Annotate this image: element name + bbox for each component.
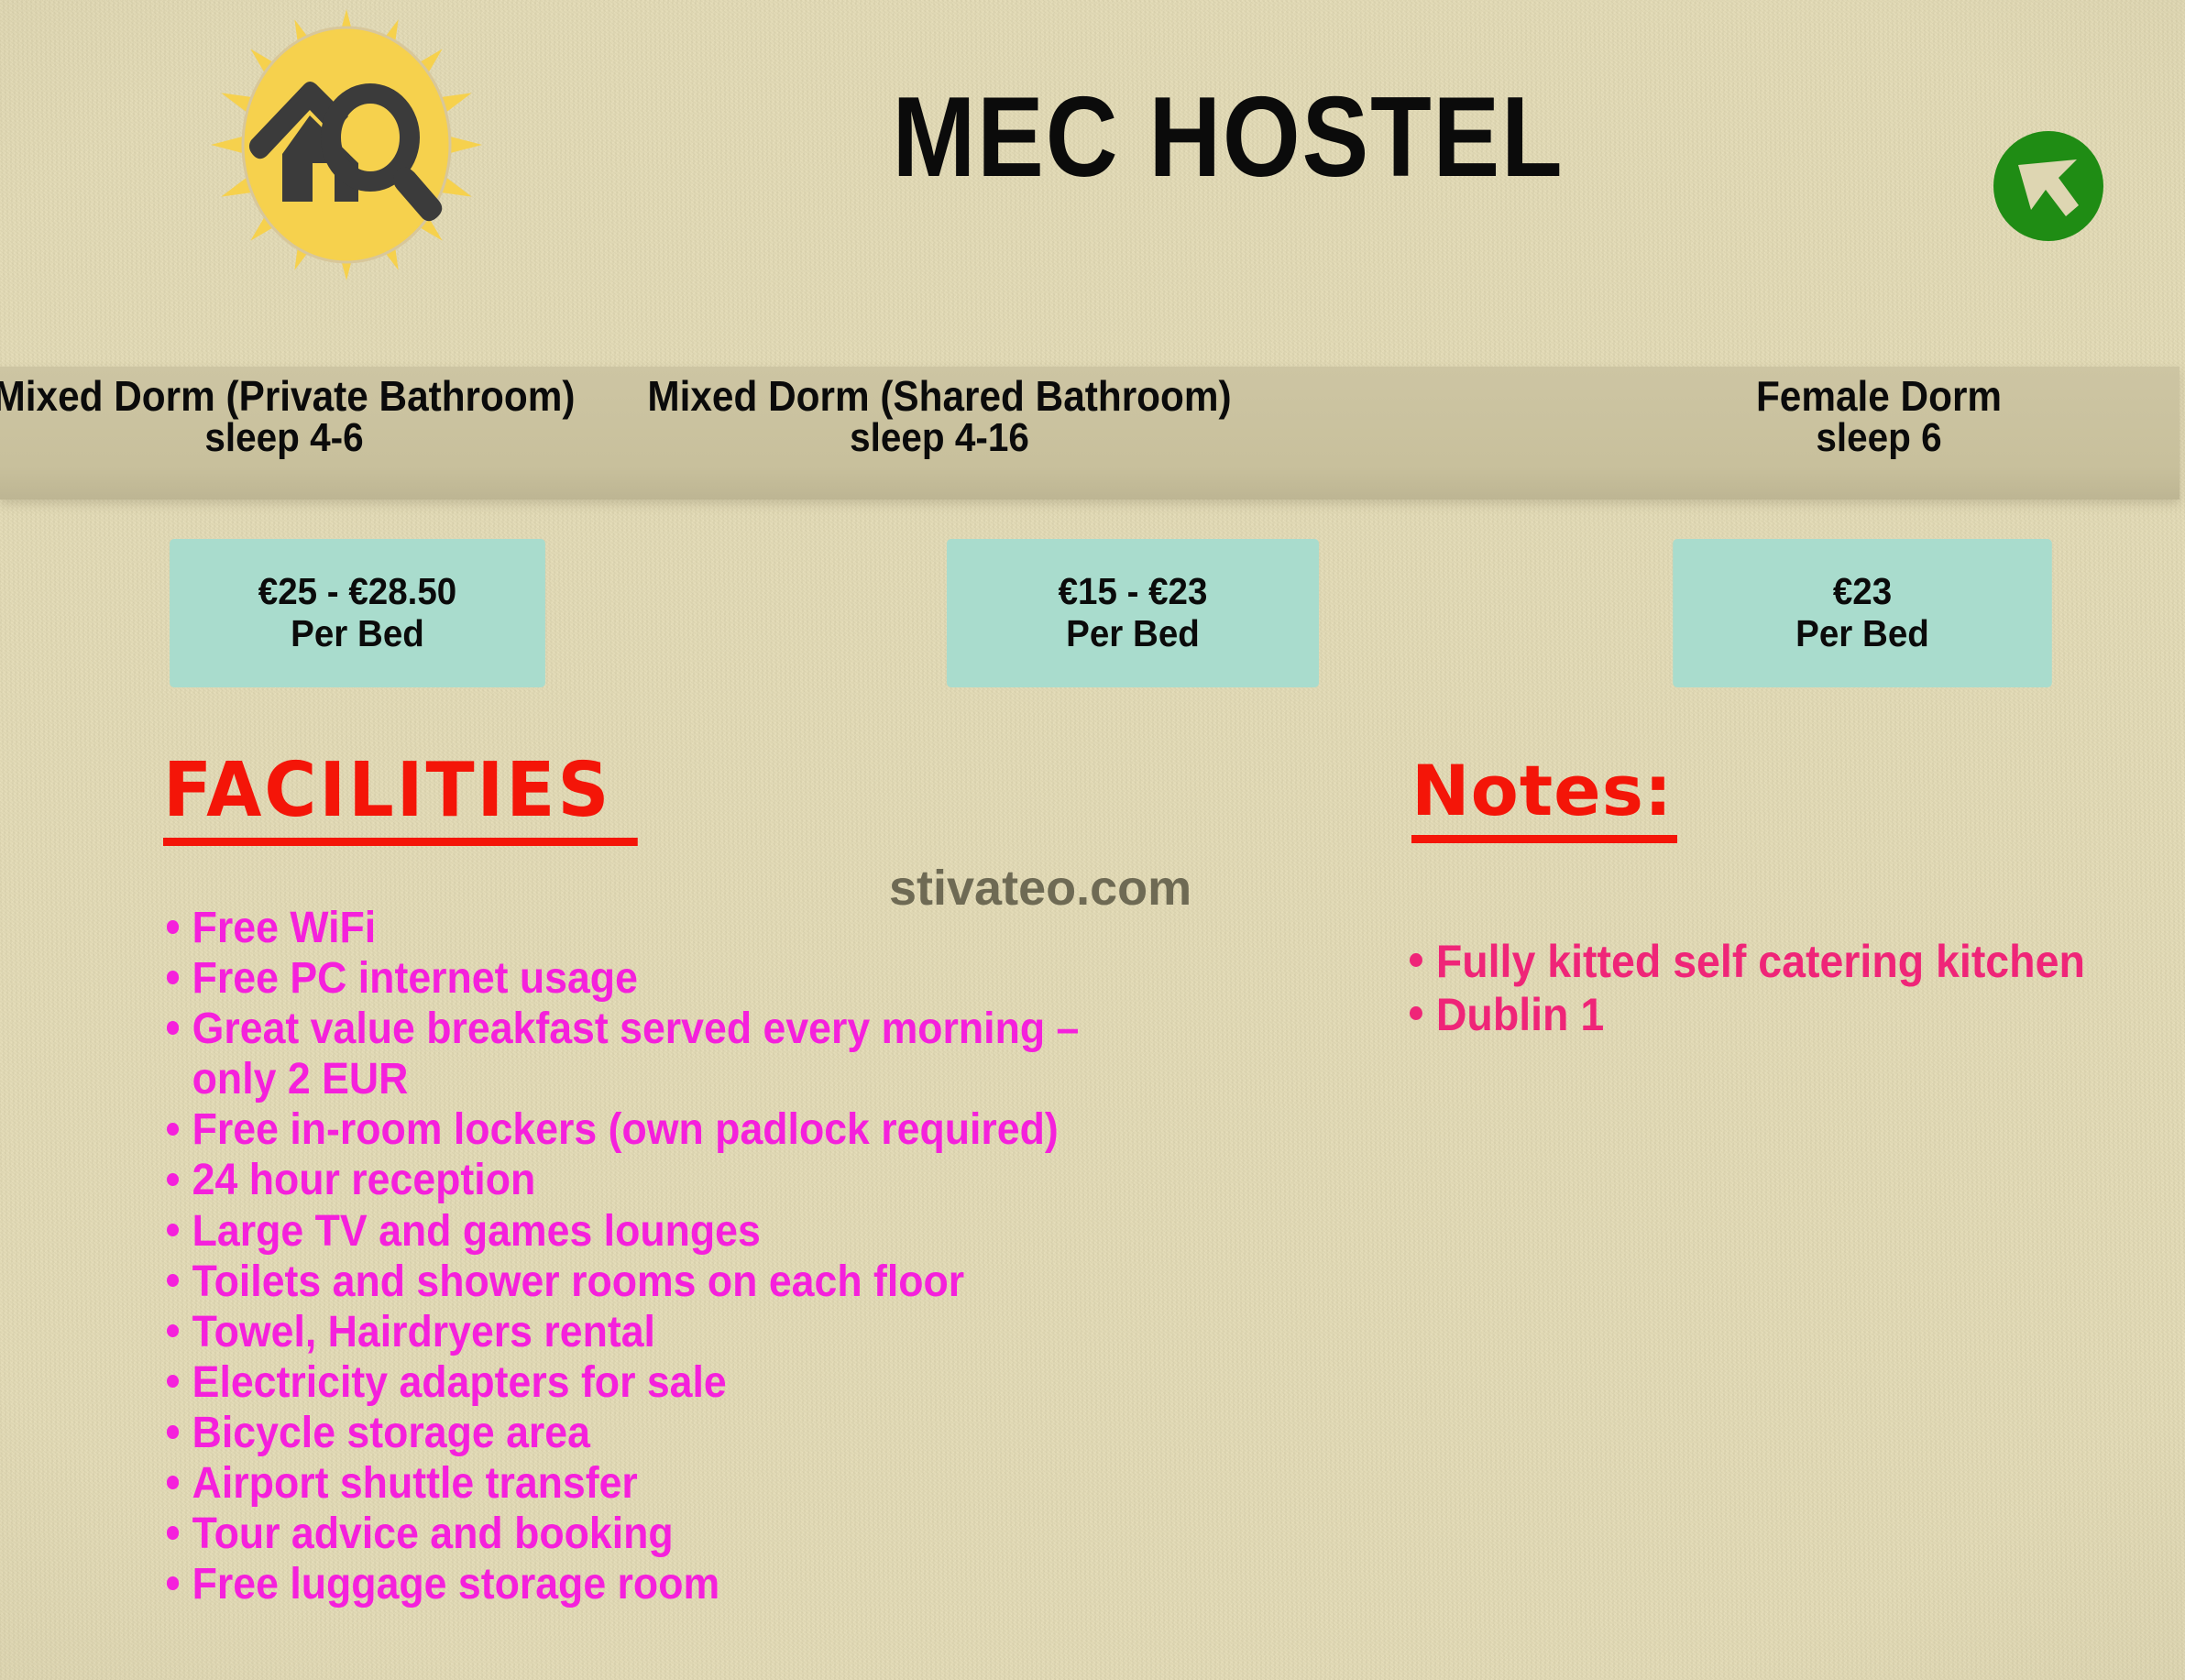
room-type-header-2: Female Dorm sleep 6 [1660,375,2098,459]
price-unit-2: Per Bed [1795,613,1929,655]
bullet-dot-icon [167,1476,179,1488]
facilities-heading: FACILITIES [163,747,638,846]
bullet-dot-icon [167,971,179,983]
facility-item-label: Bicycle storage area [167,1408,1172,1458]
room-type-header-band: Mixed Dorm (Private Bathroom) sleep 4-6 … [0,367,2180,500]
facility-item-label: Toilets and shower rooms on each floor [167,1257,1172,1307]
page-title: MEC HOSTEL [664,81,1793,194]
note-item: Dublin 1 [1410,988,2125,1041]
room-type-name-2: Female Dorm [1756,372,2002,420]
facility-item: Electricity adapters for sale [167,1357,1172,1408]
facility-item: Towel, Hairdryers rental [167,1307,1172,1357]
facility-item-label: 24 hour reception [167,1155,1172,1205]
facility-item-label: Free WiFi [167,903,1172,953]
green-cursor-arrow-icon[interactable] [1989,126,2108,246]
facility-item: Large TV and games lounges [167,1206,1172,1257]
price-box-female-dorm: €23 Per Bed [1673,539,2052,687]
facility-item: Airport shuttle transfer [167,1458,1172,1509]
room-type-sleeps-2: sleep 6 [1660,418,2098,459]
bullet-dot-icon [167,1274,179,1287]
note-item-label: Dublin 1 [1410,988,2125,1041]
facility-item: Tour advice and booking [167,1509,1172,1559]
bullet-dot-icon [167,1021,179,1034]
facility-item-label: Large TV and games lounges [167,1206,1172,1257]
notes-heading-underline [1411,835,1677,843]
facility-item-label: Tour advice and booking [167,1509,1172,1559]
room-type-sleeps-1: sleep 4-16 [552,418,1327,459]
house-magnifier-sun-icon [209,7,484,282]
facility-item: Free PC internet usage [167,953,1172,1004]
bullet-dot-icon [167,1576,179,1589]
facility-item-label: Electricity adapters for sale [167,1357,1172,1408]
facility-item: Great value breakfast served every morni… [167,1004,1172,1104]
facility-item-label: Free PC internet usage [167,953,1172,1004]
note-item-label: Fully kitted self catering kitchen [1410,935,2125,988]
facility-item: Free in-room lockers (own padlock requir… [167,1104,1172,1155]
hostel-info-poster: MEC HOSTEL Mixed Dorm (Private Bathroom)… [0,0,2185,1680]
notes-heading: Notes: [1411,750,1677,843]
bullet-dot-icon [167,1324,179,1337]
bullet-dot-icon [167,1224,179,1236]
price-value-2: €23 [1833,571,1892,613]
room-type-header-1: Mixed Dorm (Shared Bathroom) sleep 4-16 [552,375,1327,459]
facility-item-label: Great value breakfast served every morni… [167,1004,1172,1104]
bullet-dot-icon [167,1375,179,1388]
facility-item-label: Airport shuttle transfer [167,1458,1172,1509]
facilities-list: Free WiFiFree PC internet usageGreat val… [167,903,1248,1609]
facility-item-label: Towel, Hairdryers rental [167,1307,1172,1357]
notes-heading-text: Notes: [1411,750,1673,831]
bullet-dot-icon [167,1425,179,1438]
room-type-name-0: Mixed Dorm (Private Bathroom) [0,372,575,420]
bullet-dot-icon [167,1526,179,1539]
notes-list: Fully kitted self catering kitchenDublin… [1410,935,2180,1041]
facility-item-label: Free luggage storage room [167,1559,1172,1609]
facilities-heading-text: FACILITIES [163,747,611,834]
price-box-mixed-dorm-private: €25 - €28.50 Per Bed [170,539,545,687]
facility-item: 24 hour reception [167,1155,1172,1205]
price-box-mixed-dorm-shared: €15 - €23 Per Bed [947,539,1319,687]
bullet-dot-icon [167,920,179,933]
bullet-dot-icon [1410,953,1422,967]
note-item: Fully kitted self catering kitchen [1410,935,2125,988]
bullet-dot-icon [167,1173,179,1186]
facility-item: Bicycle storage area [167,1408,1172,1458]
facilities-heading-underline [163,838,638,846]
room-type-name-1: Mixed Dorm (Shared Bathroom) [647,372,1231,420]
price-unit-1: Per Bed [1066,613,1200,655]
price-value-1: €15 - €23 [1059,571,1208,613]
price-unit-0: Per Bed [291,613,424,655]
facility-item: Free WiFi [167,903,1172,953]
bullet-dot-icon [1410,1006,1422,1020]
bullet-dot-icon [167,1123,179,1136]
facility-item-label: Free in-room lockers (own padlock requir… [167,1104,1172,1155]
facility-item: Toilets and shower rooms on each floor [167,1257,1172,1307]
price-value-0: €25 - €28.50 [258,571,456,613]
facility-item: Free luggage storage room [167,1559,1172,1609]
